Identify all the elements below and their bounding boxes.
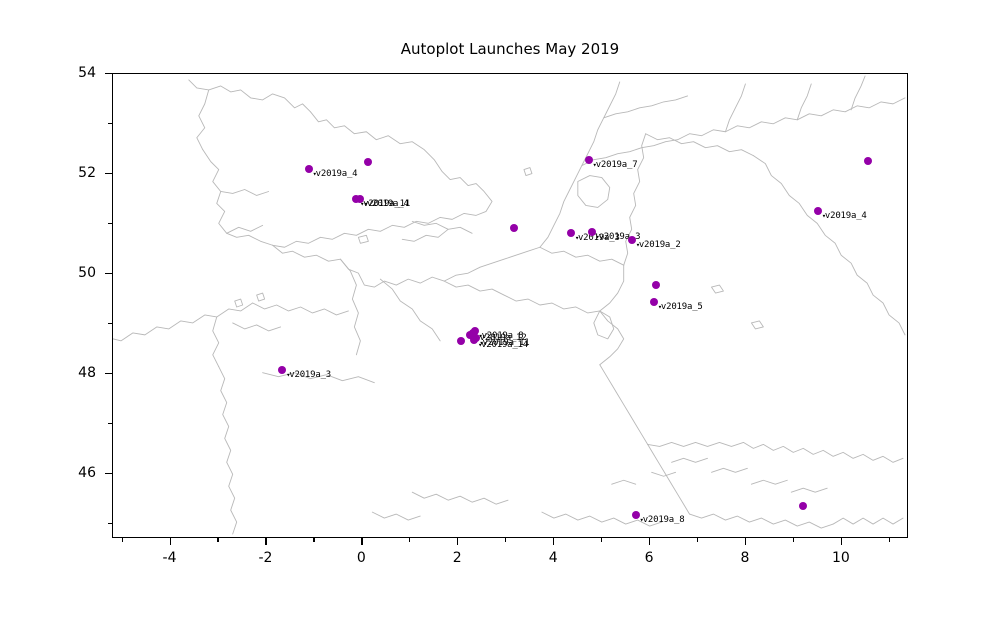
y-axis-minor-tick — [108, 423, 112, 424]
x-axis-minor-tick — [889, 538, 890, 542]
y-axis-tick-label: 50 — [52, 265, 96, 281]
launch-marker-dot — [356, 195, 364, 203]
x-axis-tick — [841, 538, 842, 545]
x-axis-minor-tick — [217, 538, 218, 542]
x-axis-tick — [170, 538, 171, 545]
y-axis-tick-label: 48 — [52, 365, 96, 381]
launch-marker-dot — [278, 366, 286, 374]
x-axis-minor-tick — [313, 538, 314, 542]
launch-marker-dot — [364, 158, 372, 166]
y-axis-tick — [105, 373, 112, 374]
y-axis-minor-tick — [108, 123, 112, 124]
y-axis-tick — [105, 73, 112, 74]
x-axis-tick-label: 2 — [453, 550, 462, 566]
launch-point-label: v2019a_5 — [658, 302, 703, 312]
x-axis-tick — [457, 538, 458, 545]
x-axis-tick — [265, 538, 266, 545]
x-axis-tick-label: 6 — [645, 550, 654, 566]
launch-point-label: v2019a_4 — [313, 169, 358, 179]
y-axis-tick — [105, 473, 112, 474]
x-axis-tick — [361, 538, 362, 545]
launch-point-label: v2019a_4 — [364, 199, 409, 209]
y-axis-tick-label: 46 — [52, 465, 96, 481]
launch-marker-dot — [799, 502, 807, 510]
launch-marker-dot — [864, 157, 872, 165]
launch-marker-dot — [567, 229, 575, 237]
launch-point-label: v2019a_7 — [593, 160, 638, 170]
x-axis-tick — [553, 538, 554, 545]
launch-marker-dot — [457, 337, 465, 345]
y-axis-tick-label: 52 — [52, 165, 96, 181]
launch-point-label: v2019a_8 — [640, 515, 685, 525]
page-title: Autoplot Launches May 2019 — [112, 40, 908, 58]
y-axis-minor-tick — [108, 223, 112, 224]
launch-marker-dot — [814, 207, 822, 215]
x-axis-tick-label: 10 — [832, 550, 850, 566]
x-axis-tick-label: 0 — [357, 550, 366, 566]
y-axis-minor-tick — [108, 323, 112, 324]
y-axis-minor-tick — [108, 523, 112, 524]
y-axis-tick — [105, 273, 112, 274]
launch-marker-dot — [628, 236, 636, 244]
launch-point-label: v2019a_3 — [286, 370, 331, 380]
x-axis-minor-tick — [793, 538, 794, 542]
launch-point-label: v2019a_14 — [478, 340, 528, 350]
plot-area: v2019a_4v2019a_11v2019a_4v2019a_7v2019a_… — [112, 73, 908, 538]
x-axis-tick-label: 8 — [740, 550, 749, 566]
x-axis-tick-label: 4 — [549, 550, 558, 566]
x-axis-minor-tick — [505, 538, 506, 542]
launch-point-label: v2019a_4 — [822, 211, 867, 221]
x-axis-minor-tick — [697, 538, 698, 542]
x-axis-tick — [745, 538, 746, 545]
x-axis-minor-tick — [601, 538, 602, 542]
x-axis-tick-label: -4 — [163, 550, 177, 566]
launch-point-label: v2019a_2 — [636, 240, 681, 250]
launch-marker-dot — [652, 281, 660, 289]
figure-canvas: Autoplot Launches May 2019 — [0, 0, 1003, 633]
launch-marker-dot — [470, 336, 478, 344]
data-points-layer: v2019a_4v2019a_11v2019a_4v2019a_7v2019a_… — [113, 74, 907, 537]
launch-marker-dot — [510, 224, 518, 232]
launch-marker-dot — [650, 298, 658, 306]
launch-marker-dot — [305, 165, 313, 173]
y-axis-tick-label: 54 — [52, 65, 96, 81]
y-axis-tick — [105, 173, 112, 174]
launch-marker-dot — [585, 156, 593, 164]
x-axis-minor-tick — [122, 538, 123, 542]
x-axis-tick-label: -2 — [258, 550, 272, 566]
x-axis-minor-tick — [409, 538, 410, 542]
launch-marker-dot — [632, 511, 640, 519]
launch-marker-dot — [588, 228, 596, 236]
x-axis-tick — [649, 538, 650, 545]
